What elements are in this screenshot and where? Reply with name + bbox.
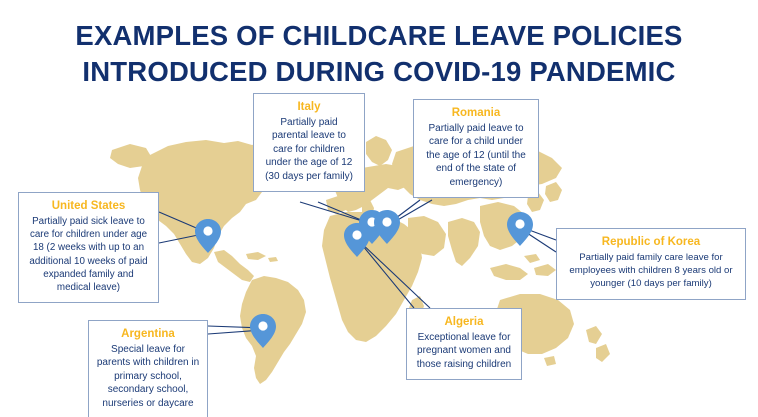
callout-italy-text: Partially paid parental leave to care fo… (261, 116, 357, 183)
callout-argentina-text: Special leave for parents with children … (96, 343, 200, 410)
callout-romania-text: Partially paid leave to care for a child… (421, 122, 531, 189)
callout-united-states[interactable]: United States Partially paid sick leave … (18, 192, 159, 303)
callout-republic-of-korea-country: Republic of Korea (564, 235, 738, 250)
callout-united-states-country: United States (26, 199, 151, 214)
pin-united-states[interactable] (195, 219, 221, 253)
callout-argentina-country: Argentina (96, 327, 200, 342)
callout-algeria-country: Algeria (414, 315, 514, 330)
callout-italy-country: Italy (261, 100, 357, 115)
infographic-canvas: EXAMPLES OF CHILDCARE LEAVE POLICIES INT… (0, 0, 758, 417)
callout-united-states-text: Partially paid sick leave to care for ch… (26, 215, 151, 294)
callout-italy[interactable]: Italy Partially paid parental leave to c… (253, 93, 365, 192)
pin-republic-of-korea[interactable] (507, 212, 533, 246)
pin-romania[interactable] (374, 210, 400, 244)
callout-algeria[interactable]: Algeria Exceptional leave for pregnant w… (406, 308, 522, 380)
pin-argentina[interactable] (250, 314, 276, 348)
callout-republic-of-korea[interactable]: Republic of Korea Partially paid family … (556, 228, 746, 300)
callout-republic-of-korea-text: Partially paid family care leave for emp… (564, 251, 738, 291)
callout-romania-country: Romania (421, 106, 531, 121)
callout-romania[interactable]: Romania Partially paid leave to care for… (413, 99, 539, 198)
callout-argentina[interactable]: Argentina Special leave for parents with… (88, 320, 208, 417)
callout-algeria-text: Exceptional leave for pregnant women and… (414, 331, 514, 371)
